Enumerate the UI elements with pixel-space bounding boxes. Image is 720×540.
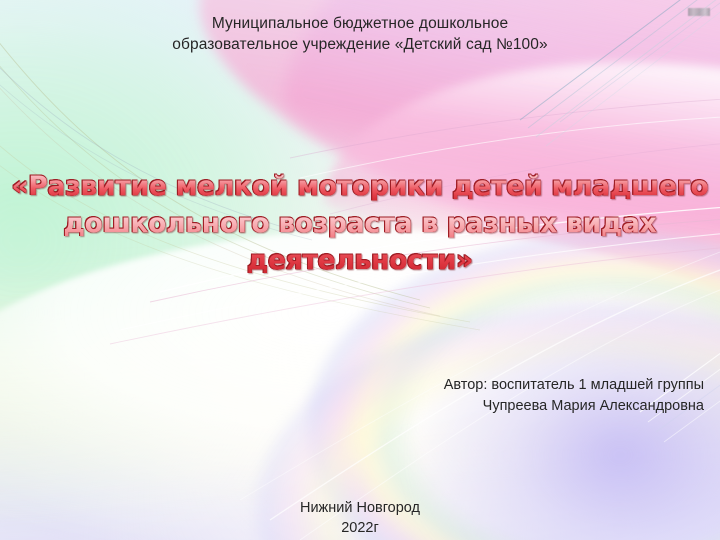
author-credit: Автор: воспитатель 1 младшей группы Чупр… (444, 375, 704, 417)
slide-canvas: Муниципальное бюджетное дошкольное образ… (0, 0, 720, 540)
city-year-footer: Нижний Новгород 2022г (0, 498, 720, 538)
title-line-2: дошкольного возраста в разных видах деят… (0, 205, 720, 279)
institution-header: Муниципальное бюджетное дошкольное образ… (0, 13, 720, 55)
title-line-1: «Развитие мелкой моторики детей младшего (0, 168, 720, 205)
presentation-title: «Развитие мелкой моторики детей младшего… (0, 168, 720, 279)
